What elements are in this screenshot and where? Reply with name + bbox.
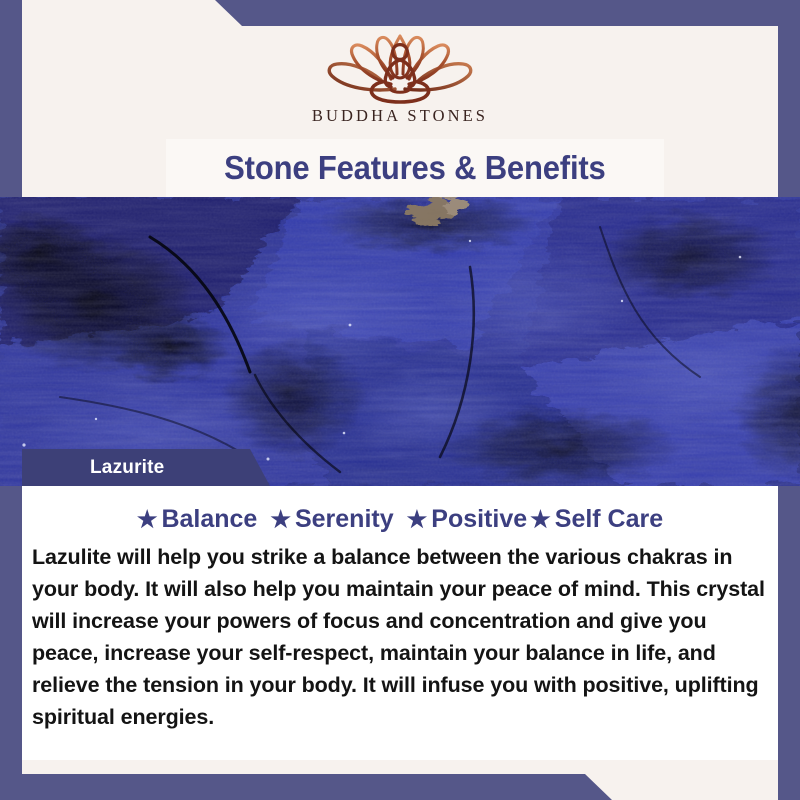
star-icon: ★: [407, 508, 428, 531]
keyword-list: ★ Balance ★ Serenity ★ Positive ★ Self C…: [22, 505, 778, 534]
stone-name-label: Lazurite: [22, 449, 270, 486]
lotus-meditation-figure-icon: [307, 26, 493, 104]
brand-logo: BUDDHA STONES: [0, 26, 800, 138]
stone-description-panel: ★ Balance ★ Serenity ★ Positive ★ Self C…: [22, 486, 778, 760]
stone-name-text: Lazurite: [90, 457, 164, 479]
description-text: Lazulite will help you strike a balance …: [32, 541, 770, 733]
keyword-label: Serenity: [295, 505, 394, 534]
keyword-label: Positive: [431, 505, 527, 534]
stone-info-card: BUDDHA STONES Stone Features & Benefits: [0, 0, 800, 800]
brand-name: BUDDHA STONES: [312, 106, 488, 126]
keyword-item-self-care: ★ Self Care: [530, 505, 663, 534]
star-icon: ★: [530, 508, 551, 531]
lazurite-stone-photo: [0, 197, 800, 486]
keyword-item-positive: ★ Positive: [407, 505, 528, 534]
page-title: Stone Features & Benefits: [224, 149, 605, 187]
title-banner: Stone Features & Benefits: [166, 139, 664, 197]
star-icon: ★: [137, 508, 158, 531]
frame-border-bottom-angled: [0, 774, 800, 800]
keyword-item-balance: ★ Balance: [137, 505, 258, 534]
keyword-item-serenity: ★ Serenity: [270, 505, 393, 534]
keyword-label: Self Care: [555, 505, 663, 534]
star-icon: ★: [270, 508, 291, 531]
frame-border-top-angled: [0, 0, 800, 26]
keyword-label: Balance: [161, 505, 257, 534]
